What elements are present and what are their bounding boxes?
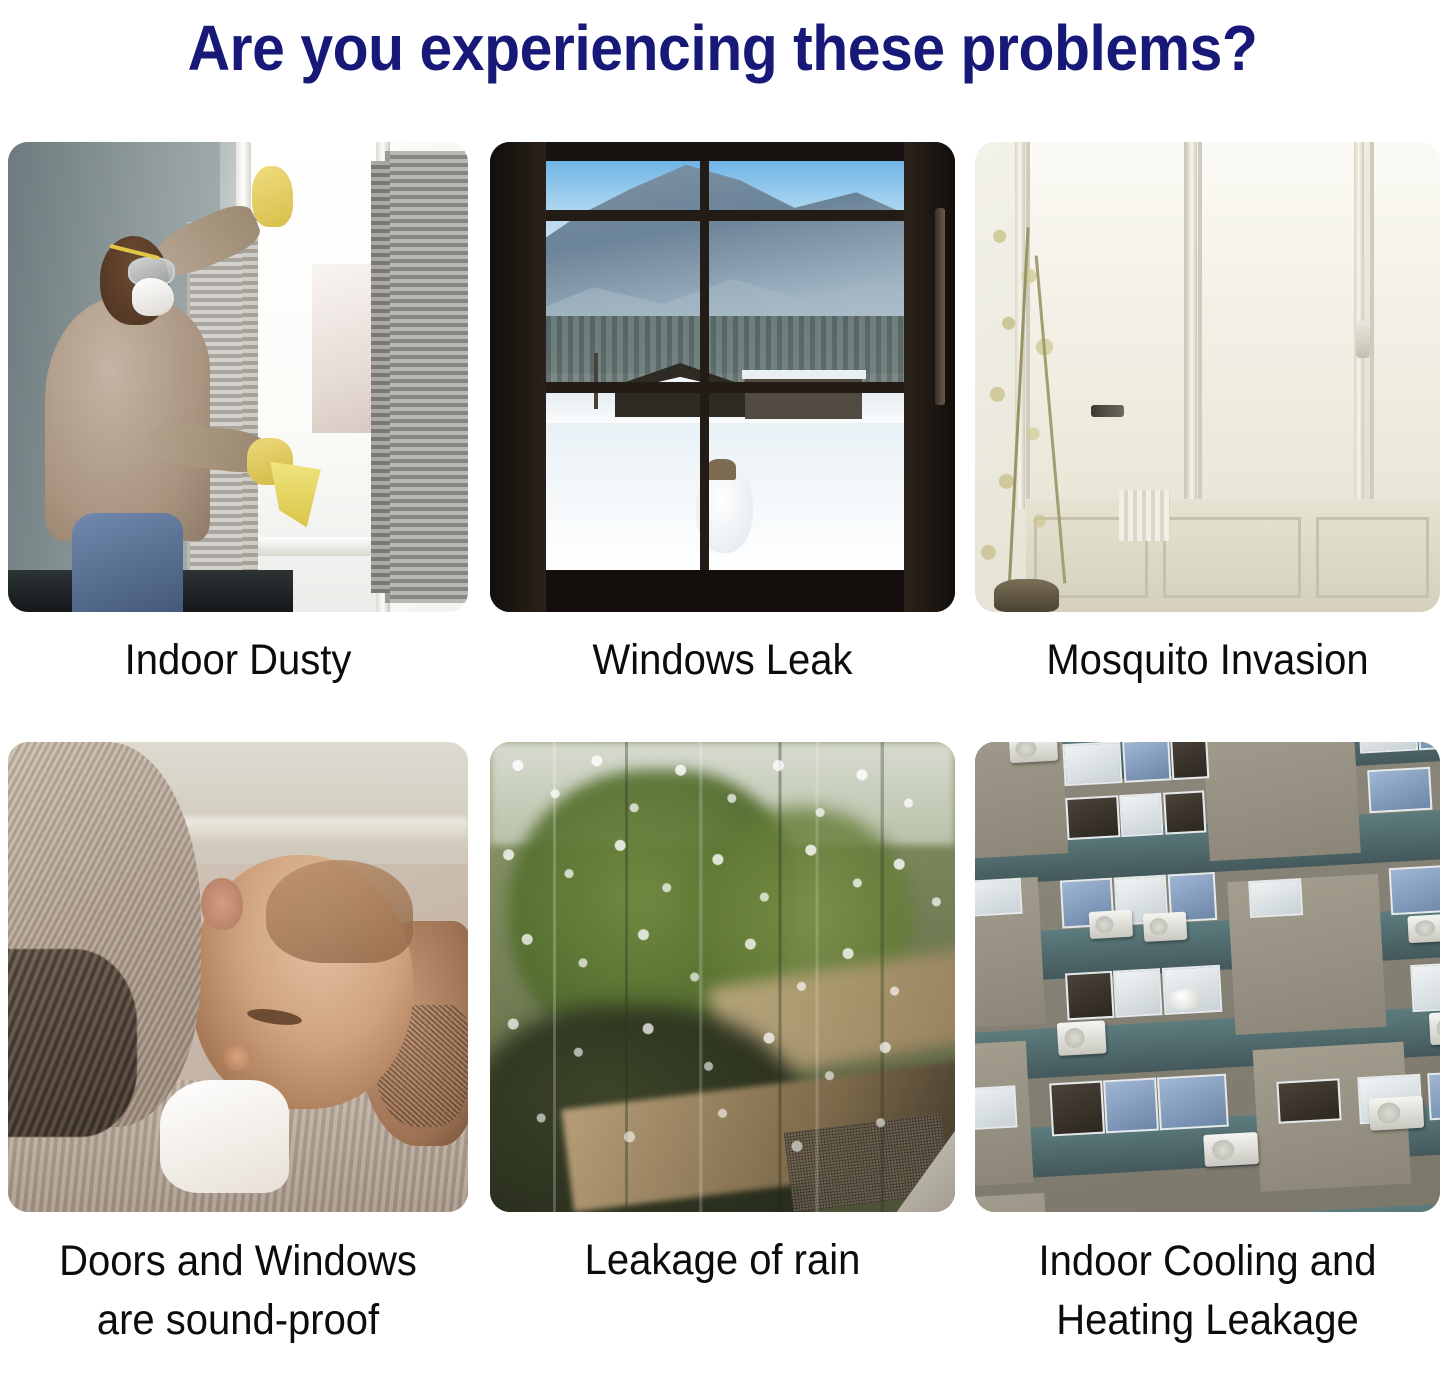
problem-card-cooling-heating-leakage[interactable]: Indoor Cooling and Heating Leakage: [975, 742, 1440, 1351]
baby-hair: [266, 860, 413, 963]
air-conditioner-unit: [1008, 742, 1058, 763]
air-conditioner-unit: [1203, 1132, 1259, 1168]
person-torso: [45, 297, 211, 541]
problem-card-indoor-dusty[interactable]: Indoor Dusty: [8, 142, 468, 689]
problem-grid: Indoor Dusty: [0, 96, 1445, 1382]
building-window: [1410, 961, 1440, 1012]
building-window: [1122, 742, 1171, 783]
window-pane-middle: [1198, 142, 1359, 499]
building-window: [1388, 864, 1440, 915]
window-latch: [935, 208, 945, 405]
building-window: [1163, 791, 1207, 835]
building-window: [1049, 1080, 1104, 1136]
caption-windows-leak: Windows Leak: [506, 632, 938, 689]
baby-ear: [201, 878, 242, 930]
air-conditioner-unit: [1088, 909, 1133, 939]
building-window: [1276, 1078, 1342, 1124]
building-window: [1065, 970, 1115, 1020]
window-frame-left: [490, 142, 546, 612]
air-conditioner-unit: [1429, 1010, 1440, 1045]
problem-row-bottom: Doors and Windows are sound-proof Leakag…: [0, 742, 1445, 1378]
window-frame-right: [904, 142, 955, 612]
problem-card-leakage-of-rain[interactable]: Leakage of rain: [490, 742, 955, 1289]
wainscot-panel: [1316, 517, 1430, 597]
building-window: [1113, 968, 1163, 1018]
window-muntin-vertical: [700, 161, 709, 570]
page-title: Are you experiencing these problems?: [58, 0, 1387, 96]
building-window: [1427, 1069, 1440, 1120]
baby-onesie: [160, 1080, 289, 1193]
caption-cooling-heating-leakage: Indoor Cooling and Heating Leakage: [991, 1232, 1423, 1351]
building-window: [1120, 793, 1164, 837]
air-conditioner-unit: [1407, 913, 1440, 943]
building-window: [975, 1085, 1018, 1131]
louvered-shutter-right-inner: [371, 161, 389, 593]
air-conditioner-unit: [1369, 1095, 1425, 1131]
wainscot-panel: [1163, 517, 1301, 597]
photo-sleeping-baby: [8, 742, 468, 1212]
window-pane-right: [1370, 142, 1440, 499]
caption-mosquito-invasion: Mosquito Invasion: [991, 632, 1423, 689]
problem-card-windows-leak[interactable]: Windows Leak: [490, 142, 955, 689]
photo-apartment-facade: [975, 742, 1440, 1212]
building-window: [1066, 795, 1121, 840]
building-window: [1063, 742, 1123, 786]
window-mullion: [1187, 142, 1197, 509]
village-houses: [553, 357, 897, 431]
utility-pole: [594, 353, 598, 409]
window-muntin-horizontal-top: [546, 210, 904, 221]
radiator: [1119, 490, 1170, 542]
window-handle-icon: [1356, 321, 1370, 359]
photo-indoor-dusty: [8, 142, 468, 612]
window-glass: [546, 161, 904, 570]
window-frame-bottom: [490, 570, 955, 612]
building-window: [1249, 878, 1303, 918]
blanket-shadow: [8, 949, 137, 1137]
photo-rain-on-window: [490, 742, 955, 1212]
photo-windows-leak: [490, 142, 955, 612]
building-window: [1367, 767, 1433, 813]
baby-nose: [224, 1043, 252, 1071]
air-conditioner-unit: [1057, 1020, 1107, 1055]
problem-card-sound-proof[interactable]: Doors and Windows are sound-proof: [8, 742, 468, 1351]
building-window: [975, 877, 1022, 917]
person-jeans: [72, 513, 182, 612]
window-muntin-horizontal-bottom: [546, 382, 904, 393]
building-window: [1170, 742, 1209, 780]
building-window: [1103, 1077, 1158, 1133]
window-frame-top: [490, 142, 955, 161]
louvered-shutter-right: [385, 151, 468, 602]
house-back: [745, 373, 862, 419]
apartment-facade: [975, 742, 1440, 1212]
louvered-shutter-left-inner: [242, 213, 258, 589]
caption-leakage-of-rain: Leakage of rain: [506, 1232, 938, 1289]
dried-branch-foliage: [975, 189, 1087, 584]
rain-droplets: [490, 742, 955, 1212]
caption-indoor-dusty: Indoor Dusty: [24, 632, 452, 689]
building-window: [1157, 1073, 1229, 1130]
concrete-panel: [1202, 742, 1361, 861]
caption-sound-proof: Doors and Windows are sound-proof: [24, 1232, 452, 1351]
air-conditioner-unit: [1143, 912, 1188, 942]
snowman-hat: [707, 459, 736, 479]
problem-card-mosquito-invasion[interactable]: Mosquito Invasion: [975, 142, 1440, 689]
problem-row-top: Indoor Dusty: [0, 142, 1445, 732]
concrete-panel: [975, 1193, 1051, 1212]
dust-mask-icon: [132, 278, 173, 316]
yellow-glove-upper: [252, 166, 293, 227]
floor-vase: [994, 579, 1059, 612]
photo-mosquito-invasion: [975, 142, 1440, 612]
window-handle-icon: [1091, 405, 1124, 417]
wall-wainscot: [1026, 499, 1440, 612]
house-back-roof: [742, 370, 866, 379]
building-window: [1418, 742, 1440, 750]
